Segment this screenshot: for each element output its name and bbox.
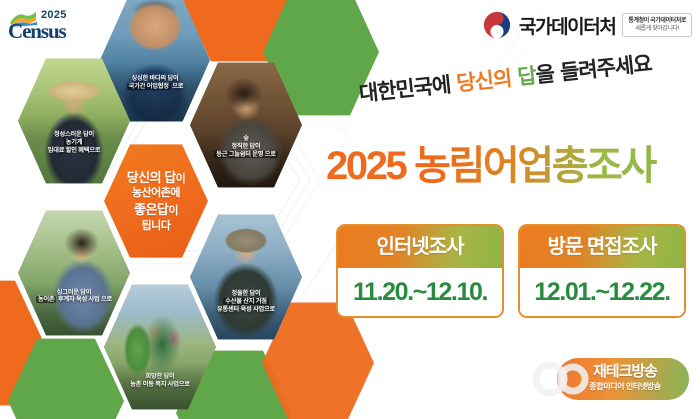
headline-part2: 당신의 bbox=[455, 64, 519, 95]
rebrand-badge-line1: 통계청이 국가데이터처로 bbox=[628, 17, 686, 25]
poster-canvas: 싱싱한 바다의 답이 국가간 어업협정 으로 정성스러운 답이 농기계 임대료 … bbox=[0, 0, 700, 419]
rebrand-badge: 통계청이 국가데이터처로 새롭게 찾아갑니다! bbox=[622, 13, 692, 37]
survey-card-internet-period: 11.20.~12.10. bbox=[338, 268, 502, 316]
survey-card-visit[interactable]: 방문 면접조사 12.01.~12.22. bbox=[518, 224, 686, 318]
government-brand: 국가데이터처 통계청이 국가데이터처로 새롭게 찾아갑니다! bbox=[482, 8, 692, 42]
watermark-title: 재테크방송 bbox=[563, 362, 687, 381]
census-logo: 2025 Census bbox=[8, 6, 94, 46]
survey-card-internet-title: 인터넷조사 bbox=[338, 226, 502, 268]
photo-caption: 싱싱한 바다의 답이 국가간 어업협정 으로 bbox=[100, 75, 210, 91]
headline-part4: 을 들려주세요 bbox=[534, 50, 652, 87]
handwritten-headline: 대한민국에 당신의 답을 들려주세요 bbox=[357, 44, 690, 126]
census-logo-word: Census bbox=[8, 19, 66, 44]
message-hexagon: 당신의 답이 농산어촌에 좋은답이 됩니다 bbox=[104, 142, 208, 260]
survey-card-visit-period: 12.01.~12.22. bbox=[520, 268, 684, 316]
photo-hex-woman-garden: 싱그러운 답이 농어촌 후계자 육성 사업 으로 bbox=[18, 208, 130, 338]
photo-caption: 싱그러운 답이 농어촌 후계자 육성 사업 으로 bbox=[18, 289, 130, 305]
rebrand-badge-line2: 새롭게 찾아갑니다! bbox=[628, 25, 686, 33]
watermark-text: 재테크방송 종합미디어 인터넷방송 bbox=[563, 362, 687, 392]
photo-caption: 정들한 답이 수산물 산지 거점 유통센터 육성 사업으로 bbox=[190, 290, 302, 313]
broadcast-watermark: 재테크방송 종합미디어 인터넷방송 bbox=[533, 356, 693, 412]
taegeuk-icon bbox=[482, 10, 512, 40]
page-title: 2025 농림어업총조사 bbox=[326, 142, 692, 190]
message-hexagon-text: 당신의 답이 농산어촌에 좋은답이 됩니다 bbox=[127, 169, 186, 233]
government-agency-name: 국가데이터처 bbox=[519, 12, 615, 39]
photo-caption: 숲 정직한 답이 등근 그늘쉼터 운영 으로 bbox=[190, 135, 302, 158]
survey-card-visit-title: 방문 면접조사 bbox=[520, 226, 684, 268]
watermark-subtitle: 종합미디어 인터넷방송 bbox=[563, 381, 687, 392]
photo-caption: 정성스러운 답이 농기계 임대료 할인 혜택으로 bbox=[18, 131, 130, 154]
survey-card-internet[interactable]: 인터넷조사 11.20.~12.10. bbox=[336, 224, 504, 318]
headline-part1: 대한민국에 bbox=[358, 71, 458, 106]
